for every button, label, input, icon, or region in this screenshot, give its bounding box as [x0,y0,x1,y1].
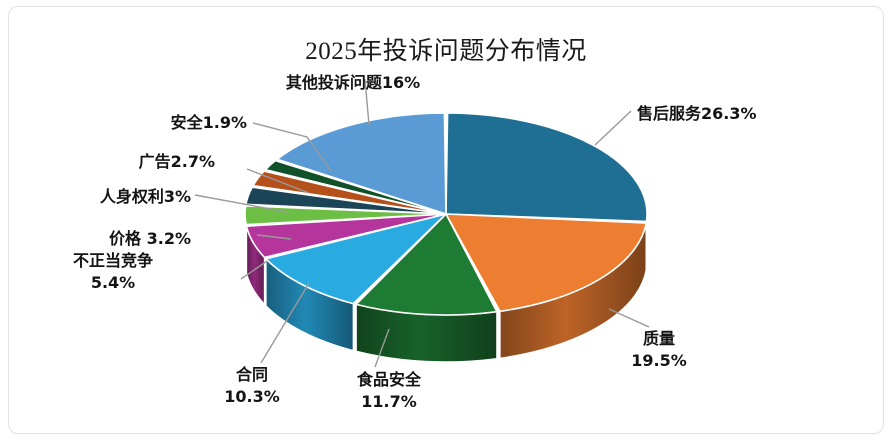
slice-label-contract-name: 合同 [209,365,295,385]
slice-label-personal-rights: 人身权利3% [19,187,191,207]
slice-label-other: 其他投诉问题16% [229,73,477,93]
slice-label-contract-value: 10.3% [209,387,295,407]
slice-label-unfair-competition-value: 5.4% [29,273,197,293]
slice-label-safety: 安全1.9% [49,113,247,133]
slice-label-price: 价格 3.2% [29,229,191,249]
slice-label-advertising: 广告2.7% [29,152,215,172]
slice-label-after-sales: 售后服务26.3% [637,104,757,124]
slice-label-quality-value: 19.5% [617,351,701,371]
slice-label-food-safety-value: 11.7% [339,392,439,412]
slice-label-unfair-competition-name: 不正当竞争 [29,251,197,271]
chart-frame: 2025年投诉问题分布情况 售后服务26.3% 质量 19.5% 食品安全 11… [8,6,884,434]
slice-label-quality-name: 质量 [617,329,701,349]
pie-chart-graphic [9,7,885,435]
screenshot-root: 2025年投诉问题分布情况 售后服务26.3% 质量 19.5% 食品安全 11… [0,0,896,444]
slice-label-food-safety-name: 食品安全 [339,370,439,390]
